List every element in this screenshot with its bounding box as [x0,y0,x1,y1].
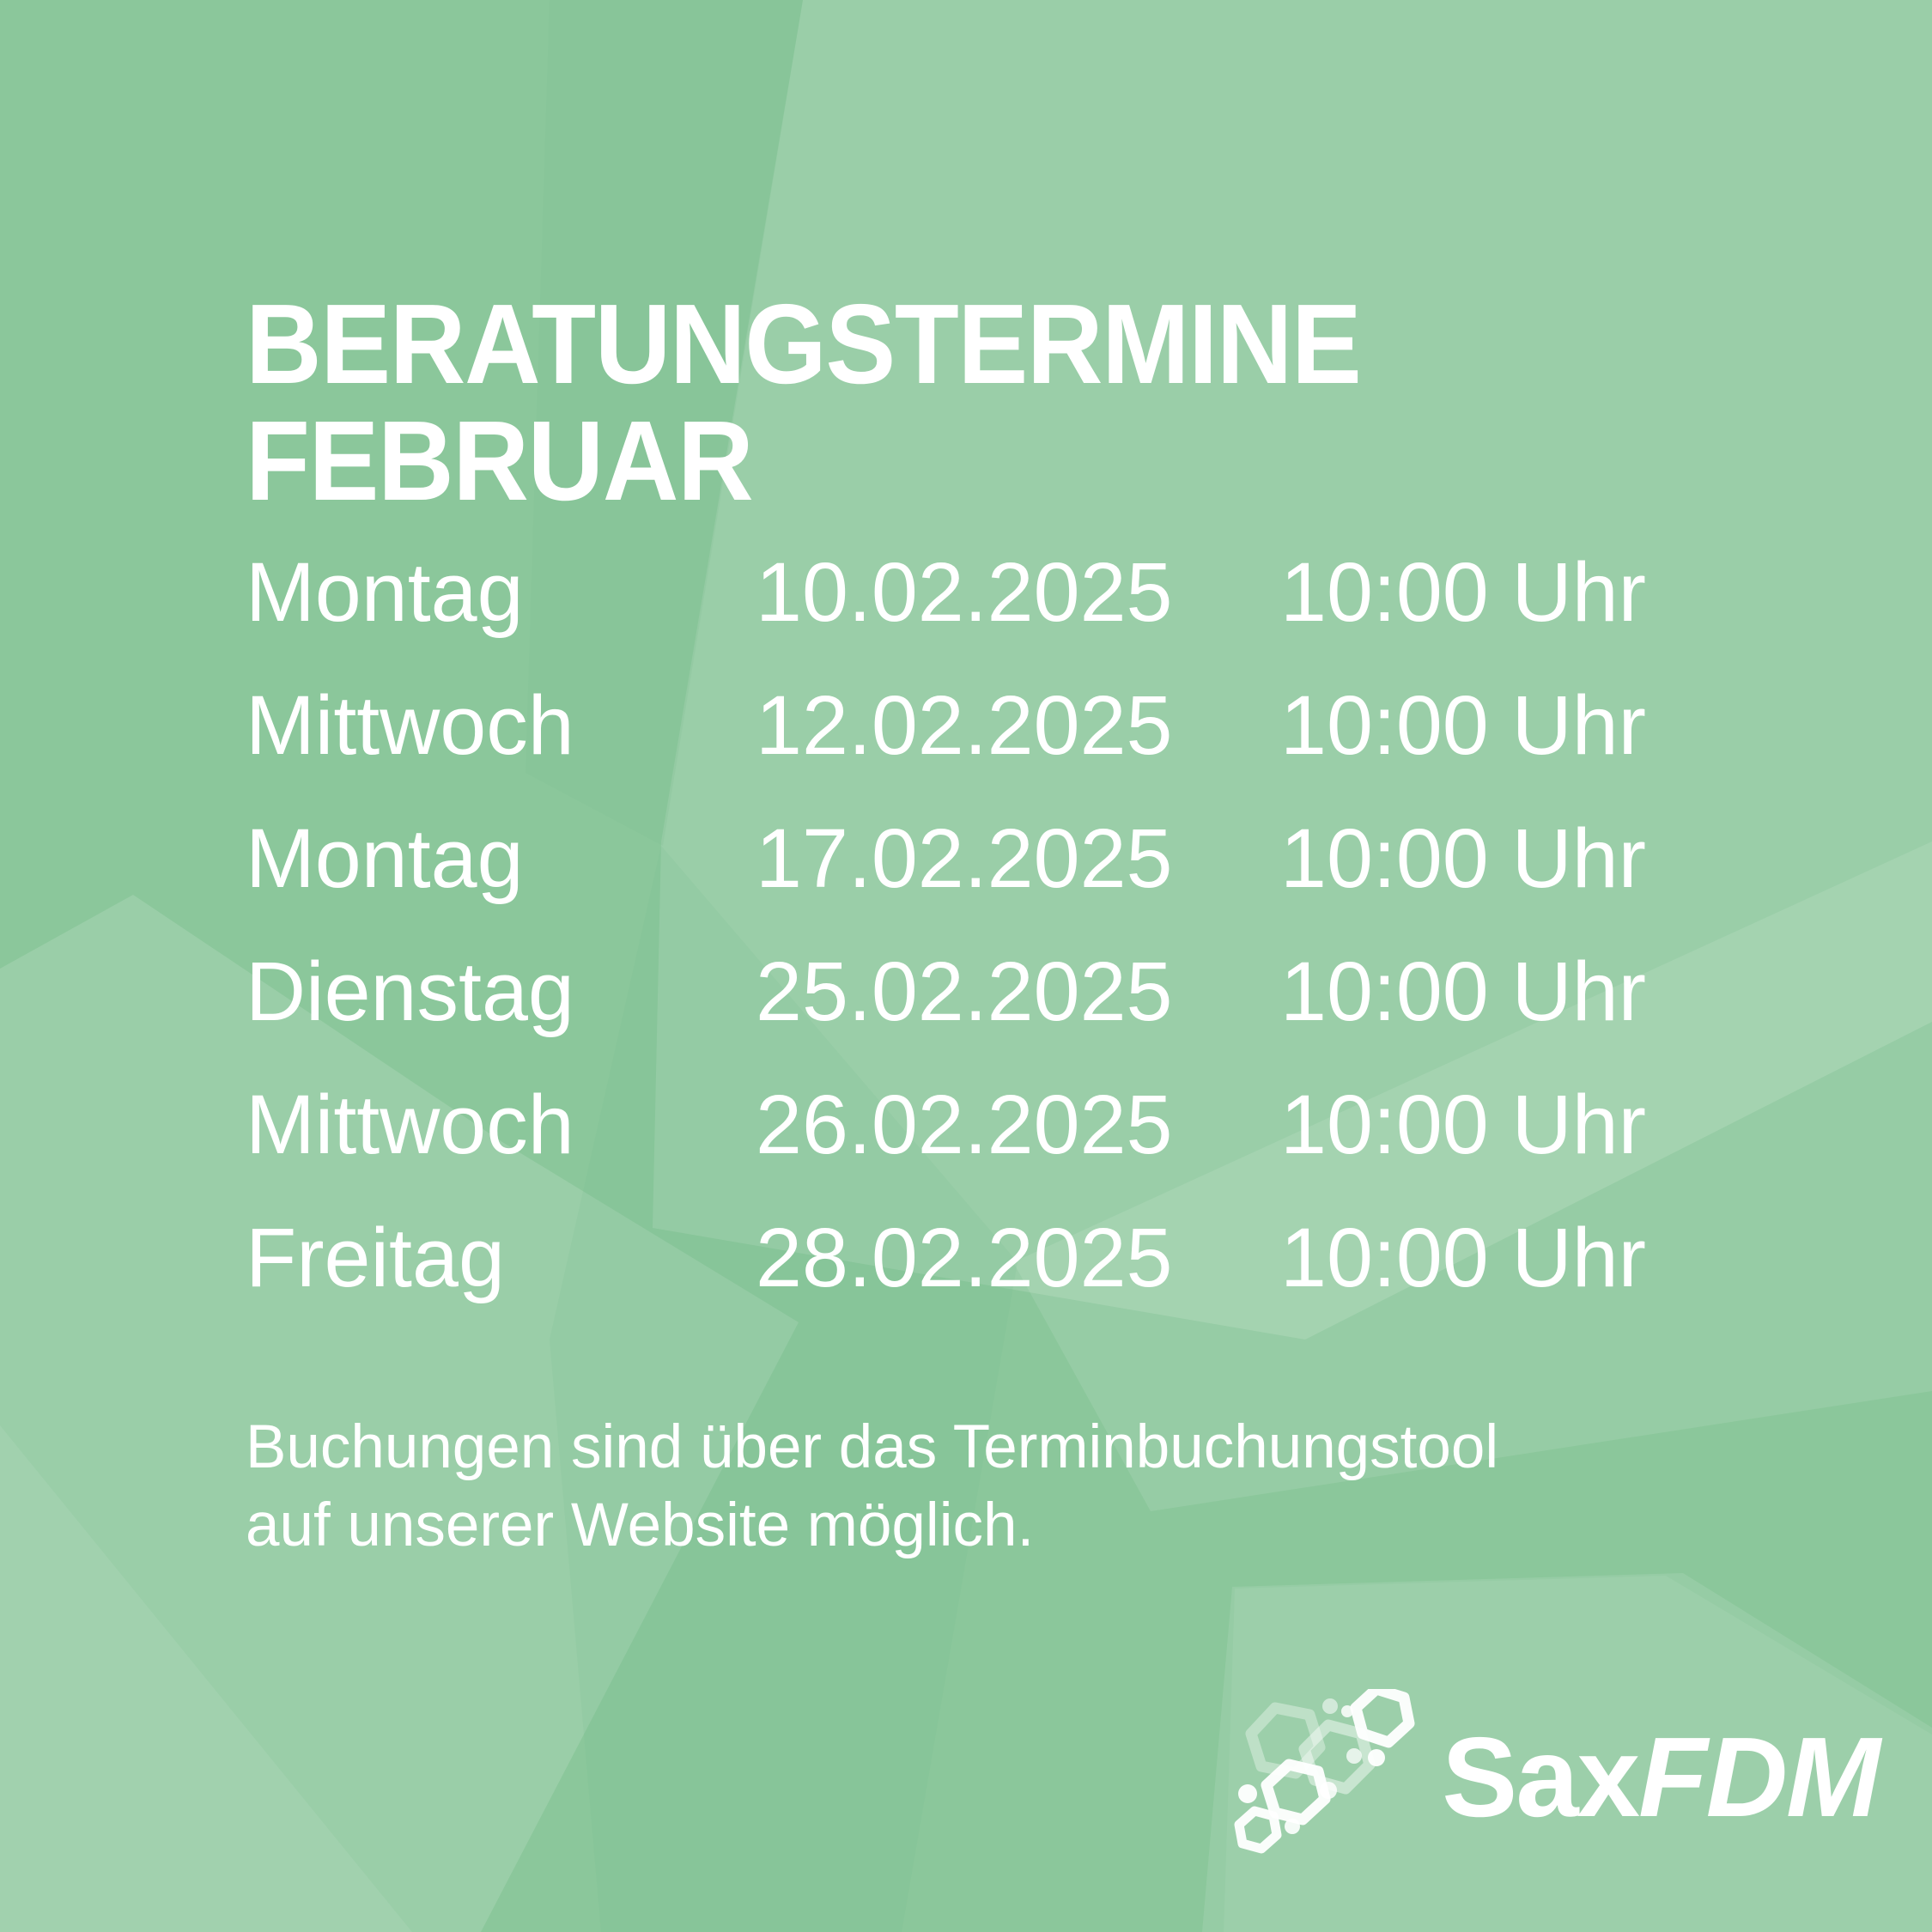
table-row: Mittwoch 12.02.2025 10:00 Uhr [246,659,1740,792]
appointment-time: 10:00 Uhr [1280,1058,1740,1191]
booking-note: Buchungen sind über das Terminbuchungsto… [246,1409,1722,1565]
appointment-date: 17.02.2025 [756,792,1280,925]
table-row: Montag 17.02.2025 10:00 Uhr [246,792,1740,925]
appointment-date: 25.02.2025 [756,925,1280,1058]
poster-content: BERATUNGSTERMINE FEBRUAR Montag 10.02.20… [0,0,1932,1932]
table-row: Mittwoch 26.02.2025 10:00 Uhr [246,1058,1740,1191]
page-title: BERATUNGSTERMINE FEBRUAR [246,286,1603,519]
appointment-weekday: Mittwoch [246,659,756,792]
logo-word-sax: Sax [1442,1714,1638,1840]
appointment-weekday: Dienstag [246,925,756,1058]
appointment-time: 10:00 Uhr [1280,792,1740,925]
appointment-weekday: Montag [246,526,756,659]
table-row: Dienstag 25.02.2025 10:00 Uhr [246,925,1740,1058]
appointment-time: 10:00 Uhr [1280,925,1740,1058]
appointment-date: 12.02.2025 [756,659,1280,792]
appointment-weekday: Montag [246,792,756,925]
saxfdm-logo: SaxFDM [1225,1689,1879,1874]
appointment-time: 10:00 Uhr [1280,1191,1740,1324]
appointment-time: 10:00 Uhr [1280,659,1740,792]
table-row: Montag 10.02.2025 10:00 Uhr [246,526,1740,659]
table-row: Freitag 28.02.2025 10:00 Uhr [246,1191,1740,1324]
saxfdm-wordmark: SaxFDM [1442,1721,1879,1843]
logo-word-fdm: FDM [1638,1714,1879,1840]
appointment-weekday: Mittwoch [246,1058,756,1191]
appointment-weekday: Freitag [246,1191,756,1324]
poster-canvas: BERATUNGSTERMINE FEBRUAR Montag 10.02.20… [0,0,1932,1932]
appointment-date: 26.02.2025 [756,1058,1280,1191]
appointment-date: 10.02.2025 [756,526,1280,659]
appointment-time: 10:00 Uhr [1280,526,1740,659]
appointment-date: 28.02.2025 [756,1191,1280,1324]
hexagon-cluster-icon [1225,1689,1423,1874]
booking-note-line-2: auf unserer Website möglich. [246,1487,1722,1565]
appointments-table: Montag 10.02.2025 10:00 Uhr Mittwoch 12.… [246,526,1740,1324]
booking-note-line-1: Buchungen sind über das Terminbuchungsto… [246,1409,1722,1487]
